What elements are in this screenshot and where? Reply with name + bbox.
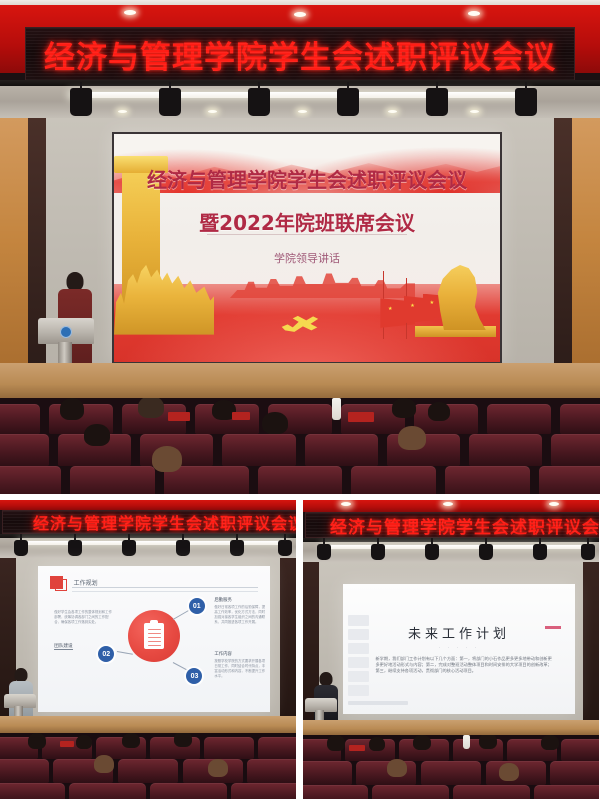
- stage-spotlight: [581, 544, 595, 560]
- connector-line: [117, 651, 133, 655]
- audience-head: [208, 759, 228, 777]
- auditorium-seat: [560, 404, 600, 434]
- item-title-03: 工作内容: [214, 651, 265, 657]
- audience-head: [387, 759, 407, 777]
- auditorium-seat: [69, 783, 146, 799]
- ceiling-red-band: [0, 500, 296, 510]
- audience-head: [138, 398, 164, 418]
- auditorium-seat: [303, 761, 352, 785]
- podium-emblem-icon: [60, 326, 72, 338]
- audience-head: [152, 446, 182, 472]
- audience-seating: [303, 735, 599, 799]
- auditorium-seat: [118, 759, 178, 783]
- stage-spotlight: [122, 540, 136, 556]
- header-square-outline: [55, 579, 67, 591]
- ceiling-downlight: [124, 10, 136, 15]
- stage-spotlight: [70, 88, 92, 116]
- slide-header-title: 工作规划: [74, 578, 98, 587]
- wall-panel-left: [0, 118, 30, 363]
- audience-head: [76, 735, 92, 749]
- auditorium-seat: [150, 783, 227, 799]
- flag-star-icon: ★: [430, 301, 434, 306]
- ceiling-downlight: [341, 502, 351, 506]
- auditorium-seat: [0, 466, 61, 494]
- led-banner-text: 经济与管理学院学生会述职评议会议: [33, 510, 296, 534]
- audience-seating: [0, 398, 600, 494]
- item-block-01: 后勤服务 做好日常各项工作的后勤保障，提高工作效率，优化方式方法，同时加强对接各…: [214, 597, 265, 626]
- ppt-status-bar: [348, 701, 408, 705]
- item-body-03: 按照学校学院的方式要求开展各项日常工作，同时结合时代特点，丰富活动形式和内容，不…: [214, 659, 265, 680]
- stage-floor: [303, 720, 599, 736]
- auditorium-seat: [258, 466, 343, 494]
- projection-screen-work-plan: 工作规划 做好学生会各项工作的整体规划和工作部署，统筹协调各部门之间的工作配合，…: [38, 566, 270, 712]
- auditorium-seat: [469, 434, 542, 466]
- clipboard-line: [148, 645, 161, 647]
- auditorium-seat: [372, 785, 449, 799]
- stage-spotlight: [425, 544, 439, 560]
- stage-spotlight: [515, 88, 537, 116]
- projection-screen-main: ★ ★ ★ 经济与管理学院学生会述职评议会议 暨2022年院班联席会议: [112, 132, 502, 364]
- audience-head: [28, 733, 46, 749]
- ceiling-downlight: [294, 12, 306, 17]
- slide-divider: [207, 234, 408, 235]
- auditorium-seat: [550, 761, 599, 785]
- auditorium-seat: [0, 759, 49, 783]
- slide-separator-dots: · · · · ·: [343, 645, 575, 651]
- ppt-thumbnail: [348, 685, 369, 696]
- red-folder-on-desk: [349, 745, 365, 751]
- stage-spotlight: [230, 540, 244, 556]
- soffit-downlight: [208, 110, 217, 113]
- wall-panel-right: [570, 118, 600, 363]
- slide-title-future-plan: 未来工作计划: [343, 623, 575, 642]
- slide-title-block: 经济与管理学院学生会述职评议会议 暨2022年院班联席会议: [114, 164, 500, 236]
- audience-head: [122, 733, 140, 748]
- led-banner: 经济与管理学院学生会述职评议会议: [25, 27, 575, 81]
- auditorium-seat: [453, 785, 530, 799]
- stage-spotlight: [426, 88, 448, 116]
- item-title-01: 后勤服务: [214, 597, 265, 603]
- stage-side-pillar: [583, 562, 599, 722]
- ceiling-light-strip: [20, 541, 286, 545]
- auditorium-seat: [0, 783, 65, 799]
- auditorium-seat: [487, 404, 551, 434]
- seat-row: [303, 785, 599, 799]
- ceiling-light-strip: [323, 545, 589, 549]
- stage-spotlight: [278, 540, 292, 556]
- audience-head: [60, 398, 84, 420]
- auditorium-seat: [70, 466, 155, 494]
- photo-collage: 经济与管理学院学生会述职评议会议: [0, 0, 600, 799]
- step-badge-01: 01: [189, 598, 205, 614]
- soffit-downlight: [298, 110, 307, 113]
- header-rule: [72, 587, 259, 588]
- slide-title-line1: 经济与管理学院学生会述职评议会议: [114, 164, 500, 193]
- left-label-team-building: 团队建设: [54, 643, 72, 650]
- ceiling-light-strip: [70, 92, 530, 98]
- audience-head: [479, 735, 497, 749]
- auditorium-seat: [222, 434, 295, 466]
- auditorium-seat: [421, 761, 481, 785]
- seat-row: [0, 759, 296, 783]
- led-banner-text: 经济与管理学院学生会述职评议会议: [44, 32, 556, 77]
- audience-head: [84, 424, 110, 446]
- auditorium-seat: [561, 739, 599, 761]
- audience-seating: [0, 733, 296, 799]
- auditorium-seat: [303, 785, 368, 799]
- left-description-text: 做好学生会各项工作的整体规划和工作部署，统筹协调各部门之间的工作配合，确保各项工…: [54, 610, 114, 626]
- stage-spotlight: [159, 88, 181, 116]
- led-banner: 经济与管理学院学生会述职评议会议: [2, 510, 296, 534]
- stage-floor: [0, 363, 600, 401]
- slide-header: 工作规划: [50, 575, 259, 594]
- stage-spotlight: [176, 540, 190, 556]
- red-folder-on-desk: [232, 412, 250, 420]
- slide-future-work-plan: 未来工作计划 · · · · · 新学期，我们部门工作计划有以下几个方面：第一，…: [343, 584, 575, 714]
- auditorium-seat: [551, 434, 600, 466]
- stage-spotlight: [317, 544, 331, 560]
- photo-top-opening-ceremony: 经济与管理学院学生会述职评议会议: [0, 0, 600, 494]
- stage-side-pillar: [554, 118, 572, 366]
- clipboard-line: [148, 633, 161, 635]
- soffit-downlight: [470, 110, 479, 113]
- red-folder-on-desk: [348, 412, 374, 422]
- slide-body-text: 新学期，我们部门工作计划有以下几个方面：第一，将部门的小石作品更多更多地带动和创…: [375, 656, 551, 675]
- step-badge-02: 02: [98, 646, 114, 662]
- projection-screen-future-plan: 未来工作计划 · · · · · 新学期，我们部门工作计划有以下几个方面：第一，…: [343, 584, 575, 714]
- water-cup: [463, 735, 470, 749]
- stage-floor: [0, 716, 296, 734]
- speaker-head: [15, 668, 28, 682]
- clipboard-line: [148, 641, 161, 643]
- ppt-thumbnail: [348, 657, 369, 668]
- stage-spotlight: [479, 544, 493, 560]
- clipboard-icon: [144, 623, 164, 649]
- ppt-thumbnail: [348, 671, 369, 682]
- audience-head: [398, 426, 426, 450]
- audience-head: [541, 735, 559, 750]
- audience-head: [499, 763, 519, 781]
- stage-spotlight: [68, 540, 82, 556]
- item-block-03: 工作内容 按照学校学院的方式要求开展各项日常工作，同时结合时代特点，丰富活动形式…: [214, 651, 265, 680]
- photo-bottom-right-future-plan: 经济与管理学院学生会述职评议会议: [303, 500, 599, 799]
- audience-head: [174, 733, 192, 747]
- stage-spotlight: [14, 540, 28, 556]
- seat-row: [0, 783, 296, 799]
- audience-head: [428, 402, 450, 421]
- auditorium-seat: [305, 434, 378, 466]
- audience-head: [262, 412, 288, 434]
- slide-title-page: ★ ★ ★ 经济与管理学院学生会述职评议会议 暨2022年院班联席会议: [114, 134, 500, 362]
- audience-head: [327, 735, 345, 751]
- stage-spotlight: [248, 88, 270, 116]
- auditorium-seat: [445, 466, 530, 494]
- red-folder-on-desk: [168, 412, 190, 421]
- auditorium-seat: [0, 434, 49, 466]
- auditorium-seat: [351, 466, 436, 494]
- slide-work-plan: 工作规划 做好学生会各项工作的整体规划和工作部署，统筹协调各部门之间的工作配合，…: [38, 566, 270, 712]
- slide-subtitle: 学院领导讲话: [114, 250, 500, 266]
- auditorium-seat: [539, 466, 600, 494]
- audience-head: [369, 737, 385, 751]
- stage-spotlight: [533, 544, 547, 560]
- auditorium-seat: [356, 761, 416, 785]
- led-banner: 经济与管理学院学生会述职评议会议: [305, 512, 599, 538]
- clipboard-line: [148, 629, 161, 631]
- photo-bottom-left-work-plan: 经济与管理学院学生会述职评议会议 工作规划: [0, 500, 296, 799]
- audience-head: [413, 735, 431, 750]
- seat-row: [303, 761, 599, 785]
- audience-head: [392, 398, 416, 418]
- soffit-downlight: [118, 110, 127, 113]
- speaker-head: [320, 672, 333, 686]
- water-cup: [332, 398, 341, 420]
- soffit-downlight: [388, 110, 397, 113]
- stage-side-pillar: [280, 558, 296, 718]
- flag-star-icon: ★: [410, 304, 414, 309]
- slide-title-line2: 暨2022年院班联席会议: [114, 207, 500, 236]
- auditorium-seat: [534, 785, 599, 799]
- auditorium-seat: [231, 783, 296, 799]
- seat-row: [0, 466, 600, 494]
- auditorium-seat: [204, 737, 254, 759]
- auditorium-seat: [258, 737, 296, 759]
- auditorium-seat: [247, 759, 296, 783]
- ceiling-downlight: [468, 11, 480, 16]
- ceiling-downlight: [549, 502, 559, 506]
- stage-spotlight: [371, 544, 385, 560]
- stage-spotlight: [337, 88, 359, 116]
- step-badge-03: 03: [186, 668, 202, 684]
- bottom-photo-row: 经济与管理学院学生会述职评议会议 工作规划: [0, 500, 600, 799]
- clipboard-clip: [150, 620, 158, 625]
- header-rule-secondary: [72, 591, 259, 592]
- led-banner-text: 经济与管理学院学生会述职评议会议: [330, 513, 599, 538]
- ceiling-downlight: [443, 502, 453, 506]
- audience-head: [94, 755, 114, 773]
- clipboard-line: [148, 637, 161, 639]
- auditorium-seat: [0, 404, 40, 434]
- flag-star-icon: ★: [388, 307, 392, 312]
- item-body-01: 做好日常各项工作的后勤保障，提高工作效率，优化方式方法，同时加强对接各学生组织之…: [214, 605, 265, 626]
- red-folder-on-desk: [60, 741, 74, 747]
- podium: [38, 318, 94, 344]
